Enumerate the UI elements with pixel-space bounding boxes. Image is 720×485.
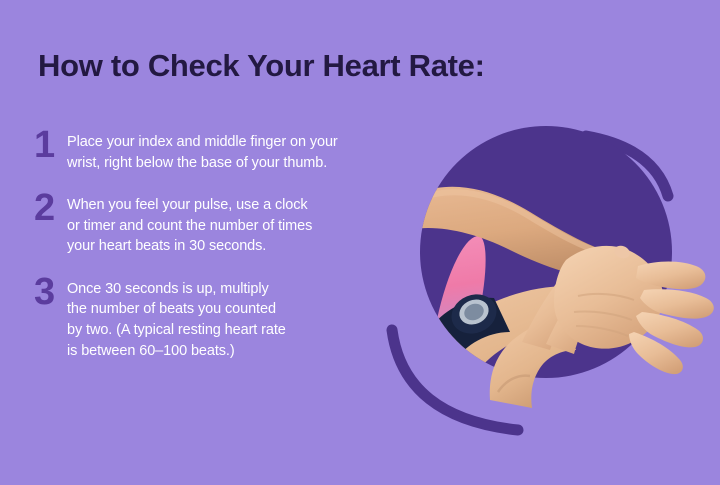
step-line: Once 30 seconds is up, multiply bbox=[67, 279, 394, 300]
list-item: 3 Once 30 seconds is up, multiply the nu… bbox=[34, 279, 394, 361]
step-number: 2 bbox=[34, 189, 64, 227]
page-title: How to Check Your Heart Rate: bbox=[38, 48, 485, 84]
step-line: wrist, right below the base of your thum… bbox=[67, 153, 394, 174]
step-line: is between 60–100 beats.) bbox=[67, 341, 394, 362]
step-line: by two. (A typical resting heart rate bbox=[67, 320, 394, 341]
step-text: When you feel your pulse, use a clock or… bbox=[67, 195, 394, 257]
step-number: 1 bbox=[34, 126, 64, 164]
decorative-arc-bottom-left-icon bbox=[370, 100, 720, 460]
step-line: When you feel your pulse, use a clock bbox=[67, 195, 394, 216]
step-line: Place your index and middle finger on yo… bbox=[67, 132, 394, 153]
step-line: the number of beats you counted bbox=[67, 299, 394, 320]
step-number: 3 bbox=[34, 273, 64, 311]
step-text: Place your index and middle finger on yo… bbox=[67, 132, 394, 173]
heart-rate-infographic: How to Check Your Heart Rate: 1 Place yo… bbox=[0, 0, 720, 485]
step-text: Once 30 seconds is up, multiply the numb… bbox=[67, 279, 394, 361]
list-item: 2 When you feel your pulse, use a clock … bbox=[34, 195, 394, 257]
step-line: your heart beats in 30 seconds. bbox=[67, 236, 394, 257]
illustration bbox=[370, 100, 720, 460]
list-item: 1 Place your index and middle finger on … bbox=[34, 132, 394, 173]
steps-list: 1 Place your index and middle finger on … bbox=[34, 132, 394, 383]
step-line: or timer and count the number of times bbox=[67, 216, 394, 237]
